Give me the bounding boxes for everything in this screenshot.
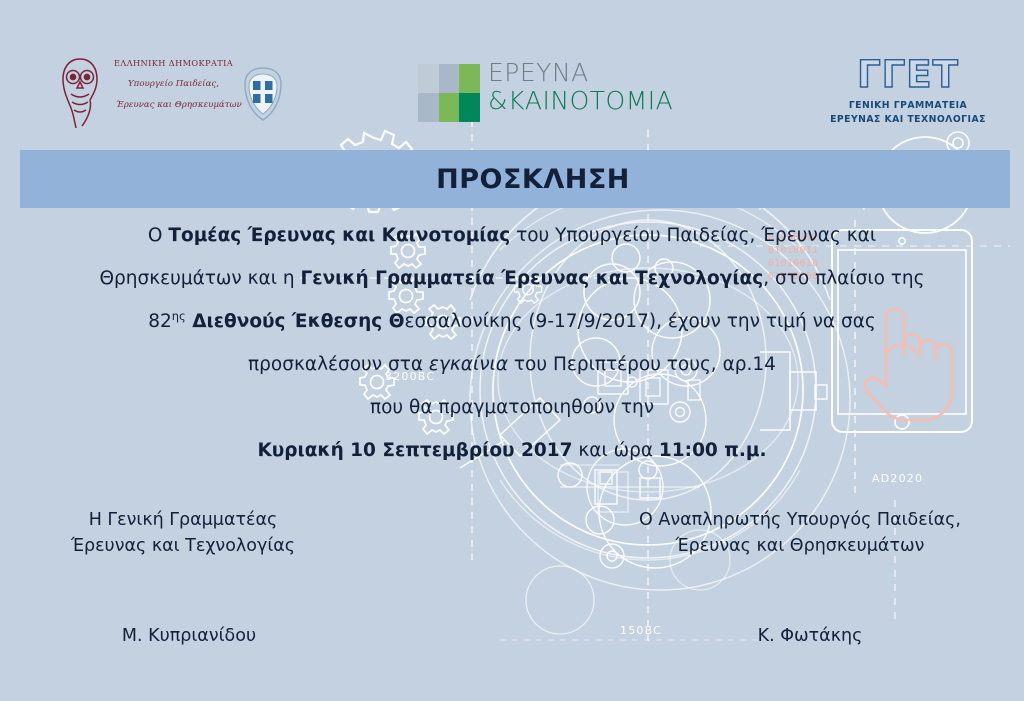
logo-row: ΕΛΛΗΝΙΚΗ ΔΗΜΟΚΡΑΤΙΑ Υπουργείο Παιδείας, … [0, 0, 1024, 150]
line3-part-b: εσσαλονίκης (9-17/9/2017), έχουν την τιμ… [404, 311, 875, 332]
swatch-1 [418, 64, 439, 93]
invitation-line-1: Ο Τομέας Έρευνας και Καινοτομίας του Υπο… [0, 214, 1024, 257]
invitation-card: 01000111 01010011 01010010 01010100 3200… [0, 0, 1024, 701]
line6-date: Κυριακή 10 Σεπτεμβρίου 2017 [257, 440, 572, 461]
gsrt-mark: ΓΓΕΤ [828, 56, 988, 93]
ministry-line-1: ΕΛΛΗΝΙΚΗ ΔΗΜΟΚΡΑΤΙΑ [114, 58, 239, 68]
line2-part-b: , στο πλαίσιο της [763, 268, 924, 289]
invitation-line-2: Θρησκευμάτων και η Γενική Γραμματεία Έρε… [0, 257, 1024, 300]
ministry-line-3: Έρευνας και Θρησκευμάτων [116, 100, 239, 110]
invitation-line-4: προσκαλέσουν στα εγκαίνια του Περιπτέρου… [0, 343, 1024, 386]
signature-right-title-1: Ο Αναπληρωτής Υπουργός Παιδείας, [630, 507, 970, 533]
gsrt-line-1: ΓΕΝΙΚΗ ΓΡΑΜΜΑΤΕΙΑ [828, 100, 988, 111]
line4-part-a: προσκαλέσουν στα [248, 354, 429, 375]
line3-ordinal: ης [172, 309, 186, 323]
swatch-4 [418, 93, 439, 122]
swatch-3 [459, 64, 480, 93]
research-innovation-logo: ΕΡΕΥΝΑ &ΚΑΙΝΟΤΟΜΙΑ [418, 60, 618, 128]
signature-left-name: Μ. Κυπριανίδου [58, 623, 320, 649]
title-banner: ΠΡΟΣΚΛΗΣΗ [20, 150, 1010, 208]
ampersand: & [488, 86, 508, 115]
line2-bold: Γενική Γραμματεία Έρευνας και Τεχνολογία… [300, 268, 763, 289]
page-title: ΠΡΟΣΚΛΗΣΗ [436, 166, 630, 193]
line1-bold: Τομέας Έρευνας και Καινοτομίας [168, 225, 510, 246]
line1-part-a: Ο [148, 225, 168, 246]
signature-left-title-2: Έρευνας και Τεχνολογίας [52, 533, 314, 559]
signature-block-left: Η Γενική Γραμματέας Έρευνας και Τεχνολογ… [52, 507, 314, 649]
signature-left-title-1: Η Γενική Γραμματέας [52, 507, 314, 533]
line3-number: 82 [148, 311, 172, 332]
swatch-5 [439, 93, 460, 122]
line6-time: 11:00 π.μ. [659, 440, 767, 461]
invitation-body: Ο Τομέας Έρευνας και Καινοτομίας του Υπο… [0, 214, 1024, 472]
logo-text-erevna: ΕΡΕΥΝΑ [488, 60, 673, 85]
invitation-line-5: που θα πραγματοποιηθούν την [0, 386, 1024, 429]
logo-text-kainotomia: &ΚΑΙΝΟΤΟΜΙΑ [488, 88, 673, 113]
signature-block-right: Ο Αναπληρωτής Υπουργός Παιδείας, Έρευνας… [630, 507, 970, 649]
signature-right-title-2: Έρευνας και Θρησκευμάτων [630, 533, 970, 559]
greek-crest-icon [240, 66, 286, 122]
line6-part-a: και ώρα [572, 440, 658, 461]
gsrt-line-2: ΕΡΕΥΝΑΣ ΚΑΙ ΤΕΧΝΟΛΟΓΙΑΣ [828, 114, 988, 125]
gsrt-logo: ΓΓΕΤ ΓΕΝΙΚΗ ΓΡΑΜΜΑΤΕΙΑ ΕΡΕΥΝΑΣ ΚΑΙ ΤΕΧΝΟ… [828, 56, 988, 136]
signature-right-name: Κ. Φωτάκης [640, 623, 980, 649]
line4-italic: εγκαίνια [429, 354, 508, 375]
line2-part-a: Θρησκευμάτων και η [99, 268, 300, 289]
logo-swatch-grid [418, 64, 480, 122]
line1-part-b: του Υπουργείου Παιδείας, Έρευνας και [510, 225, 876, 246]
swatch-2 [439, 64, 460, 93]
era-label-future: AD2020 [872, 472, 923, 485]
swatch-6 [459, 93, 480, 122]
line5-text: που θα πραγματοποιηθούν την [370, 397, 654, 418]
line3-bold: Διεθνούς Έκθεσης Θ [186, 311, 405, 332]
invitation-line-3: 82ης Διεθνούς Έκθεσης Θεσσαλονίκης (9-17… [0, 300, 1024, 343]
kainotomia-word: ΚΑΙΝΟΤΟΜΙΑ [508, 86, 673, 115]
ministry-line-2: Υπουργείο Παιδείας, [128, 79, 239, 89]
owl-icon [58, 56, 104, 130]
invitation-line-6: Κυριακή 10 Σεπτεμβρίου 2017 και ώρα 11:0… [0, 429, 1024, 472]
line4-part-b: του Περιπτέρου τους, αρ.14 [508, 354, 776, 375]
hellenic-republic-ministry-logo: ΕΛΛΗΝΙΚΗ ΔΗΜΟΚΡΑΤΙΑ Υπουργείο Παιδείας, … [52, 52, 302, 134]
